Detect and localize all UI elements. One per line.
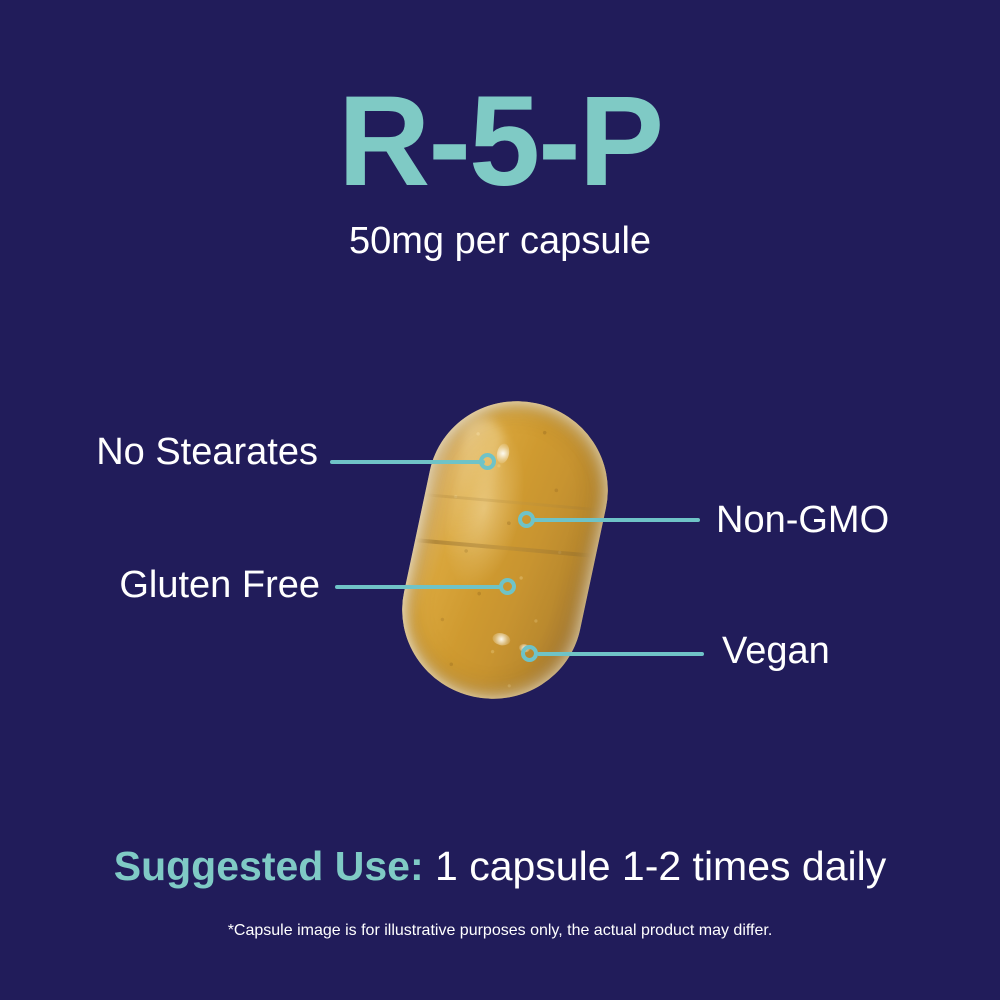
product-infographic: R-5-P 50mg per capsule No Stearates Non-… xyxy=(0,0,1000,1000)
capsule-highlight-1 xyxy=(491,631,511,646)
dosage-subtitle: 50mg per capsule xyxy=(0,222,1000,260)
feature-label-gluten-free: Gluten Free xyxy=(0,566,320,604)
feature-label-no-stearates: No Stearates xyxy=(0,433,318,471)
capsule-highlight-3 xyxy=(495,442,511,464)
capsule-image xyxy=(386,385,624,716)
capsule-powder-texture xyxy=(386,385,624,716)
leader-line-gluten-free xyxy=(335,585,503,589)
feature-label-vegan: Vegan xyxy=(722,632,830,670)
disclaimer-text: *Capsule image is for illustrative purpo… xyxy=(0,921,1000,940)
circle-marker-icon-vegan xyxy=(521,645,538,662)
capsule-seam xyxy=(408,538,604,559)
circle-marker-icon-gluten-free xyxy=(499,578,516,595)
suggested-use-heading: Suggested Use: xyxy=(114,843,424,889)
page-title: R-5-P xyxy=(0,78,1000,206)
circle-marker-icon-no-stearates xyxy=(479,453,496,470)
suggested-use-value: 1 capsule 1-2 times daily xyxy=(435,843,886,889)
leader-line-vegan xyxy=(537,652,704,656)
capsule-gloss xyxy=(439,415,507,560)
leader-line-non-gmo xyxy=(533,518,700,522)
leader-line-no-stearates xyxy=(330,460,485,464)
circle-marker-icon-non-gmo xyxy=(518,511,535,528)
suggested-use: Suggested Use: 1 capsule 1-2 times daily xyxy=(0,843,1000,890)
feature-label-non-gmo: Non-GMO xyxy=(716,501,889,539)
capsule-seam-upper xyxy=(417,493,613,513)
capsule-body xyxy=(386,385,624,716)
